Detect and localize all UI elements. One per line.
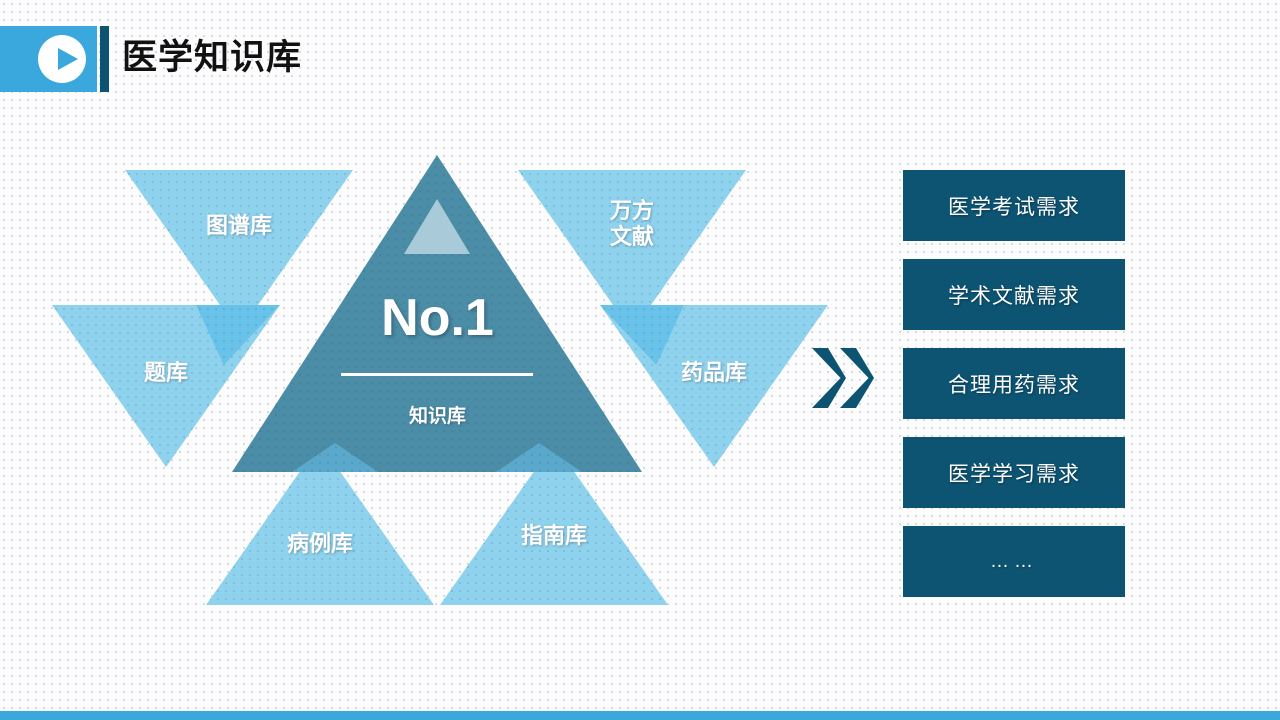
footer-bar: [0, 711, 1280, 720]
double-chevron-right-icon: [812, 348, 888, 408]
node-wanfang-label: 万方 文献: [518, 198, 746, 250]
header-accent-bar: [100, 26, 109, 92]
needs-item-0[interactable]: 医学考试需求: [903, 170, 1125, 241]
core-subtitle: 知识库: [280, 401, 595, 428]
slide-header: 医学知识库: [0, 26, 520, 92]
slide-canvas: 医学知识库 图谱库 万方 文献 No.1 知识库 题库 药品库: [0, 0, 1280, 720]
node-tiku-label: 题库: [52, 360, 280, 386]
chevron-1: [812, 348, 846, 408]
needs-item-2[interactable]: 合理用药需求: [903, 348, 1125, 419]
node-tupuku-label: 图谱库: [125, 213, 353, 239]
node-zhinanku-label: 指南库: [440, 523, 668, 549]
core-rank: No.1: [280, 288, 595, 348]
needs-item-1[interactable]: 学术文献需求: [903, 259, 1125, 330]
logo-badge: [0, 26, 97, 92]
core-divider: [341, 373, 533, 376]
node-yaopinku-label: 药品库: [600, 360, 828, 386]
page-title: 医学知识库: [122, 32, 302, 84]
play-triangle-icon: [58, 48, 78, 70]
needs-list: 医学考试需求 学术文献需求 合理用药需求 医学学习需求 ……: [903, 170, 1125, 597]
needs-item-3[interactable]: 医学学习需求: [903, 437, 1125, 508]
node-bingliku-label: 病例库: [206, 531, 434, 557]
needs-item-4[interactable]: ……: [903, 526, 1125, 597]
